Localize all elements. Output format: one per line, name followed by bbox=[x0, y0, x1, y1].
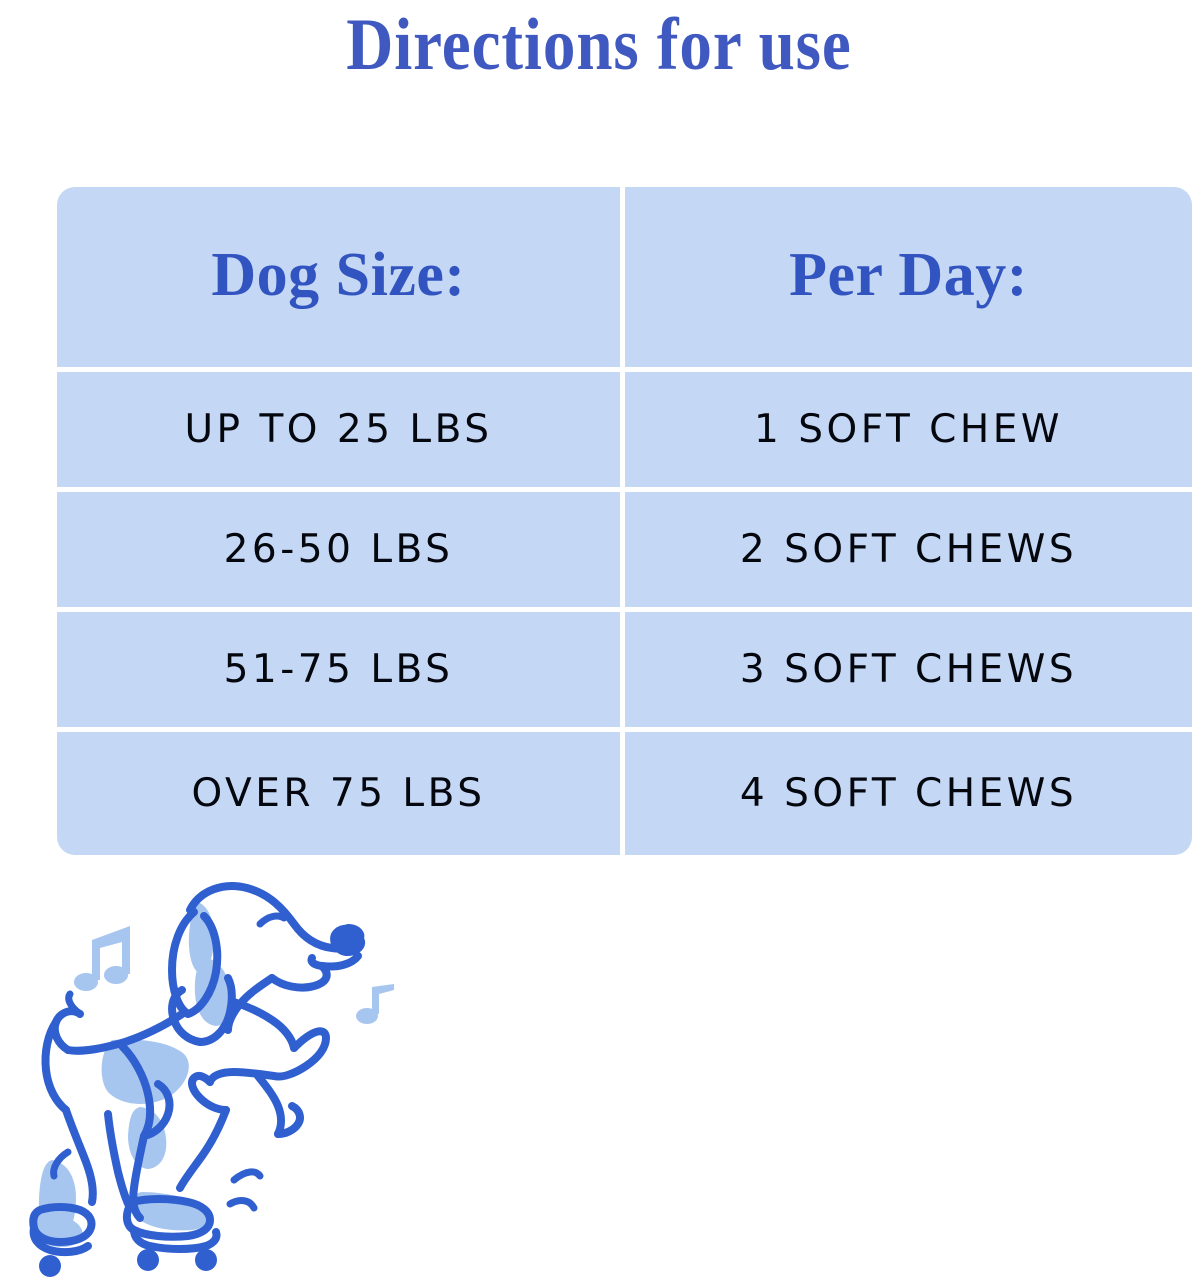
table-row: 2 SOFT CHEWS bbox=[625, 492, 1192, 612]
table-row: 4 SOFT CHEWS bbox=[625, 732, 1192, 855]
cell-dog-size: 26-50 LBS bbox=[224, 528, 454, 572]
table-row: 51-75 LBS bbox=[57, 612, 625, 732]
cell-dog-size: OVER 75 LBS bbox=[192, 772, 486, 816]
table-row: UP TO 25 LBS bbox=[57, 372, 625, 492]
cell-dog-size: 51-75 LBS bbox=[224, 648, 454, 692]
cell-per-day: 1 SOFT CHEW bbox=[754, 408, 1063, 452]
table-row: 26-50 LBS bbox=[57, 492, 625, 612]
table-row: 1 SOFT CHEW bbox=[625, 372, 1192, 492]
table-header-per-day: Per Day: bbox=[625, 187, 1192, 372]
music-note-single-icon bbox=[356, 984, 394, 1024]
table-header-dog-size: Dog Size: bbox=[57, 187, 625, 372]
cell-per-day: 3 SOFT CHEWS bbox=[740, 648, 1077, 692]
cell-per-day: 2 SOFT CHEWS bbox=[740, 528, 1077, 572]
dog-on-roller-skates-illustration bbox=[22, 862, 422, 1283]
cell-dog-size: UP TO 25 LBS bbox=[185, 408, 493, 452]
dog-illustration-svg bbox=[22, 862, 422, 1283]
table-row: 3 SOFT CHEWS bbox=[625, 612, 1192, 732]
table-header-dog-size-label: Dog Size: bbox=[211, 243, 465, 307]
page-title: Directions for use bbox=[72, 2, 1126, 88]
table-row: OVER 75 LBS bbox=[57, 732, 625, 855]
music-note-double-icon bbox=[74, 926, 130, 991]
dosage-table: Dog Size: Per Day: UP TO 25 LBS 1 SOFT C… bbox=[57, 187, 1192, 855]
table-header-per-day-label: Per Day: bbox=[789, 243, 1028, 307]
cell-per-day: 4 SOFT CHEWS bbox=[740, 772, 1077, 816]
